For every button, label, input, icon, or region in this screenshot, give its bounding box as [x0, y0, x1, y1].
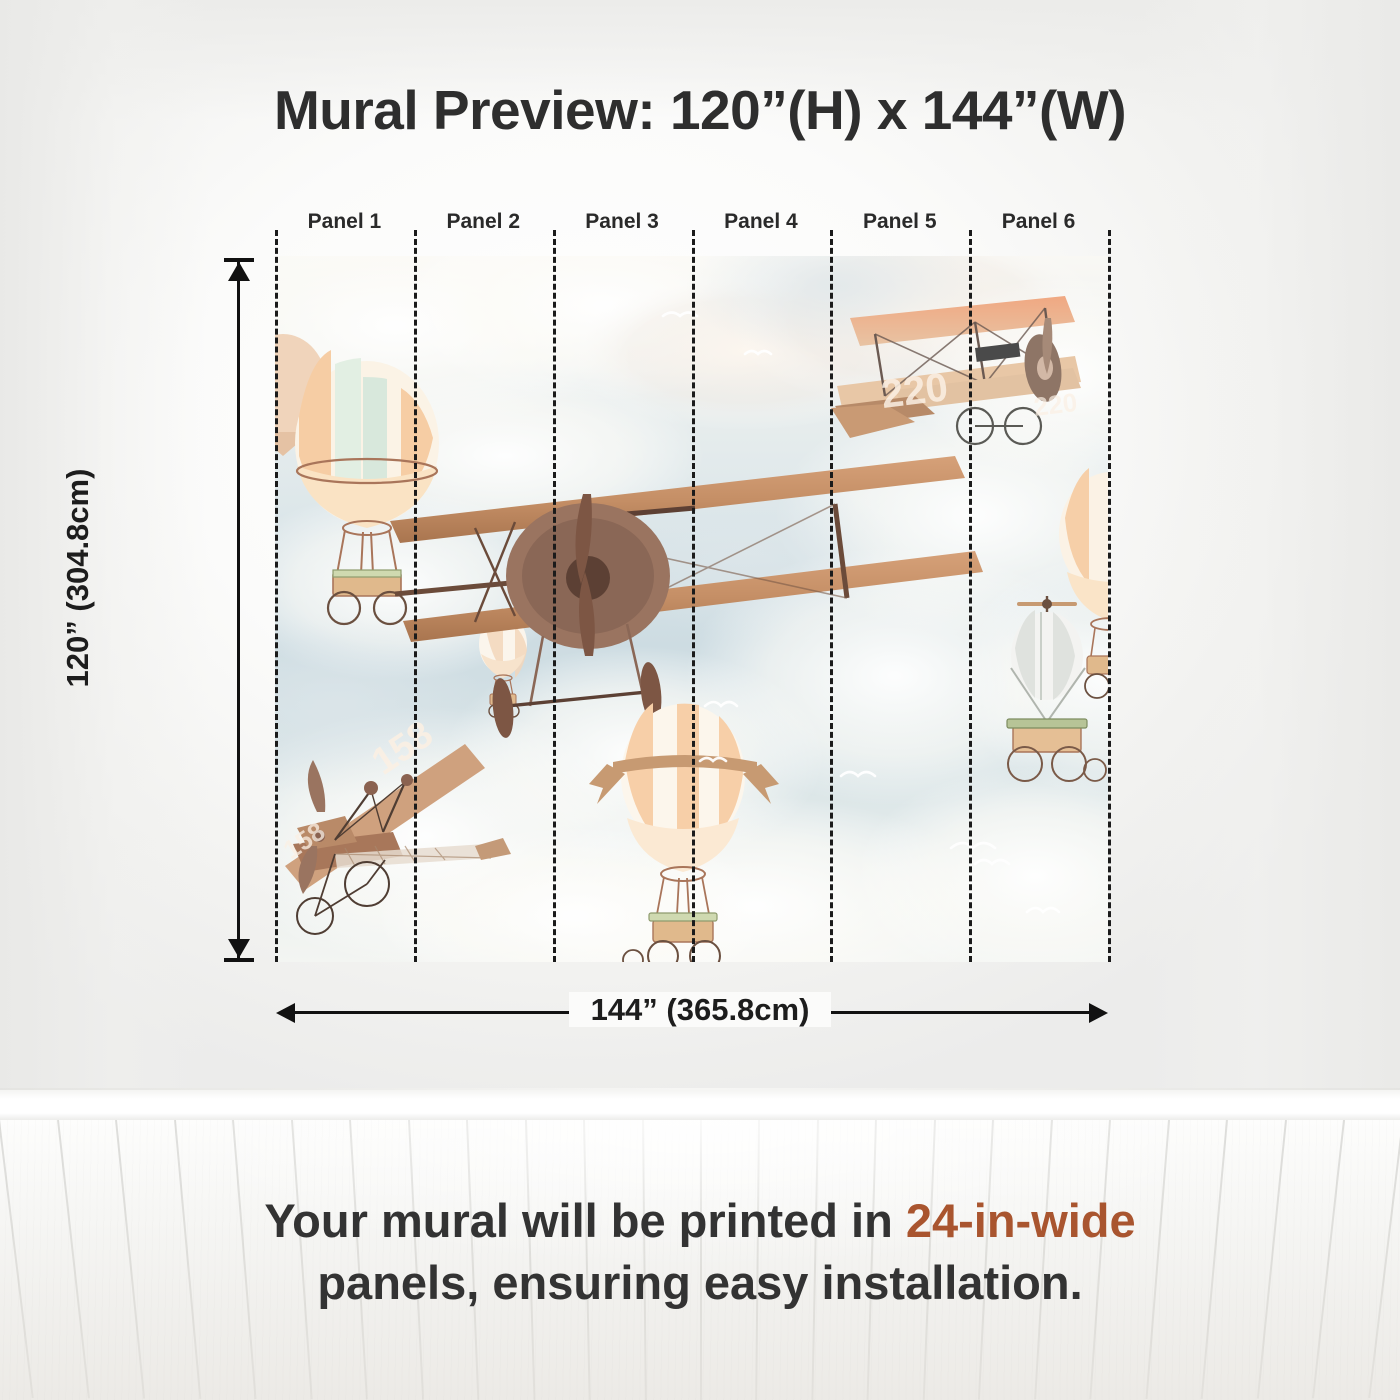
- panel-label-6: Panel 6: [1002, 210, 1076, 234]
- panel-label-5: Panel 5: [863, 210, 937, 234]
- width-dimension-text: 144” (365.8cm): [569, 992, 832, 1027]
- panel-divider-line: [830, 230, 833, 962]
- caption-line-2: panels, ensuring easy installation.: [0, 1252, 1400, 1314]
- height-arrowhead-top: [228, 262, 250, 281]
- panel-divider-line: [969, 230, 972, 962]
- mural-preview-area[interactable]: 220 220: [275, 256, 1108, 962]
- wall-left-shadow: [0, 0, 210, 1118]
- height-tick-bottom: [224, 958, 254, 962]
- panel-divider-line: [1108, 230, 1111, 962]
- panel-label-4: Panel 4: [724, 210, 798, 234]
- caption-line1-before: Your mural will be printed in: [264, 1194, 906, 1247]
- panel-label-2: Panel 2: [446, 210, 520, 234]
- height-dimension-label: 120” (304.8cm): [60, 428, 96, 728]
- page-title: Mural Preview: 120”(H) x 144”(W): [0, 78, 1400, 142]
- mural-preview-page: Mural Preview: 120”(H) x 144”(W) 120” (3…: [0, 0, 1400, 1400]
- caption-line-1: Your mural will be printed in 24-in-wide: [0, 1190, 1400, 1252]
- panel-divider-line: [692, 230, 695, 962]
- height-arrowhead-bottom: [228, 939, 250, 958]
- width-dimension-label: 144” (365.8cm): [0, 992, 1400, 1028]
- svg-text:220: 220: [879, 365, 951, 417]
- footer-caption: Your mural will be printed in 24-in-wide…: [0, 1190, 1400, 1314]
- panel-divider-line: [275, 230, 278, 962]
- height-arrow-line: [237, 262, 240, 958]
- panel-label-1: Panel 1: [308, 210, 382, 234]
- svg-text:220: 220: [1032, 387, 1079, 422]
- baseboard: [0, 1090, 1400, 1122]
- panel-divider-line: [553, 230, 556, 962]
- caption-accent-text: 24-in-wide: [906, 1194, 1136, 1247]
- panel-divider-line: [414, 230, 417, 962]
- panel-label-3: Panel 3: [585, 210, 659, 234]
- wall-right-shadow: [1140, 0, 1400, 1118]
